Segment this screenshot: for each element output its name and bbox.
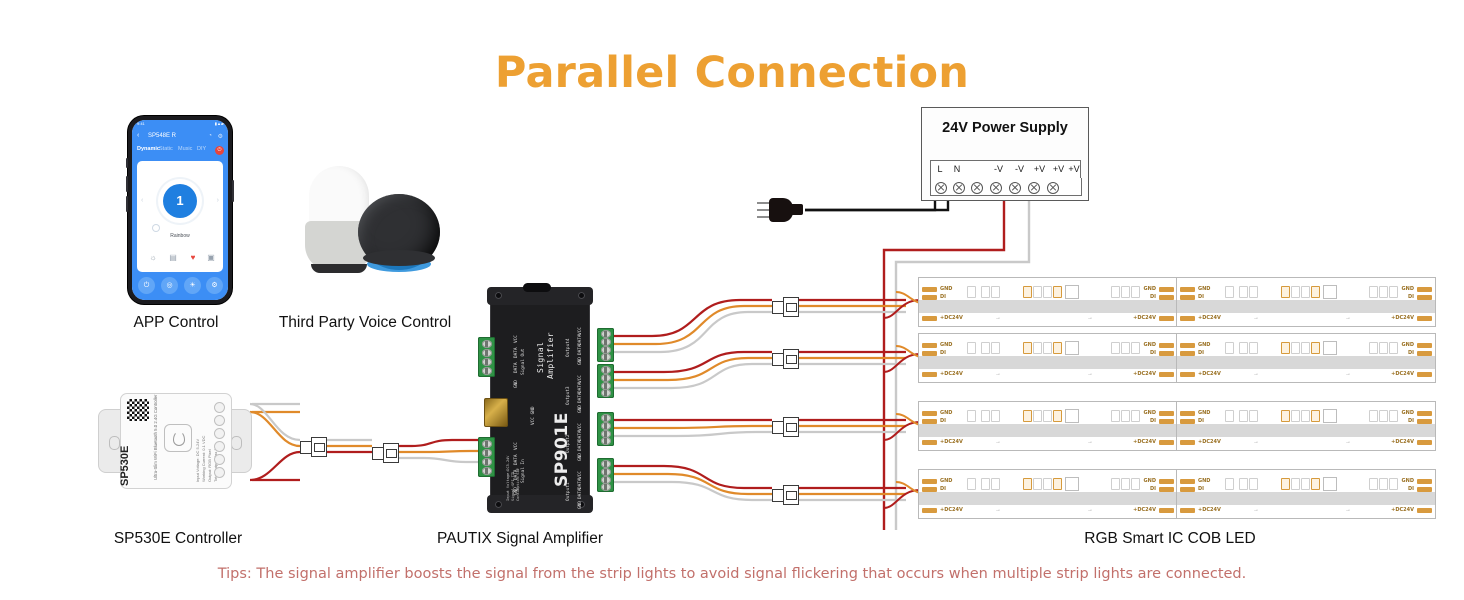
- status-icons: ▮▲▰: [215, 121, 224, 126]
- amp-spec-1: Input Voltage:DC5-24V: [506, 456, 510, 501]
- pad-label-di-end: DI: [1150, 418, 1156, 424]
- bottom-settings-icon[interactable]: ⚙: [206, 277, 223, 294]
- screw-terminal-icon[interactable]: [953, 182, 965, 194]
- pad-label-di: DI: [1198, 294, 1204, 300]
- pad-label-di-end: DI: [1408, 418, 1414, 424]
- led-strip-segment: GND DI +DC24V → → GND DI +DC24V: [918, 469, 1178, 519]
- pad-label-voltage: +DC24V: [1198, 371, 1221, 377]
- amp-out-pin-data1: DATA: [514, 347, 519, 358]
- power-toggle-icon[interactable]: ⏻: [215, 146, 224, 155]
- pad-label-di: DI: [1198, 418, 1204, 424]
- flow-arrow-icon: →: [1345, 439, 1351, 445]
- amp-output1-label: Output1: [566, 482, 571, 501]
- solder-pad-gnd: [922, 287, 937, 292]
- flow-arrow-icon: →: [1253, 439, 1259, 445]
- flow-arrow-icon: →: [1345, 371, 1351, 377]
- app-body: ‹ › 1 Rainbow ☼ ▤ ♥ ▣ ⏻ ◎ ☀ ⚙: [132, 157, 228, 300]
- amp-title-line-1: Signal: [536, 342, 545, 373]
- jst-connector-icon: [300, 436, 326, 456]
- pad-label-voltage-end: +DC24V: [1133, 315, 1156, 321]
- pad-label-di-end: DI: [1408, 486, 1414, 492]
- pad-label-di-end: DI: [1408, 350, 1414, 356]
- amp-mount-tab-top: [487, 287, 593, 305]
- flow-arrow-icon: →: [995, 507, 1001, 513]
- timer-icon[interactable]: ◔: [208, 133, 212, 139]
- flow-arrow-icon: →: [1345, 507, 1351, 513]
- led-strip-band: [1177, 300, 1435, 313]
- dial-knob[interactable]: [153, 225, 159, 231]
- pad-label-di-end: DI: [1150, 350, 1156, 356]
- pad-label-di-end: DI: [1150, 486, 1156, 492]
- pad-label-gnd: GND: [1198, 342, 1210, 348]
- pad-label-gnd: GND: [940, 478, 952, 484]
- flow-arrow-icon: →: [1253, 371, 1259, 377]
- pad-label-voltage-end: +DC24V: [1391, 439, 1414, 445]
- controller-spec-3: Output: RGB Pixel: [207, 449, 212, 482]
- qr-code-icon: [127, 399, 149, 421]
- phone-button-mute[interactable]: [126, 158, 128, 168]
- amp-signal-in-terminal[interactable]: [478, 437, 495, 477]
- scene-dial[interactable]: 1: [158, 179, 202, 223]
- phone-button-volume-down[interactable]: [126, 196, 128, 212]
- bottom-button-row: ⏻ ◎ ☀ ⚙: [137, 277, 223, 295]
- terminal-label-blank: [966, 160, 989, 180]
- app-tab-bar: Dynamic Static Music DIY ⏻: [132, 143, 228, 157]
- next-scene-icon[interactable]: ›: [217, 197, 219, 204]
- amp-output2-label: Output2: [566, 434, 571, 453]
- amp-output4-gnd: GND: [578, 357, 583, 365]
- pad-label-gnd: GND: [1198, 410, 1210, 416]
- amp-output1-terminal[interactable]: [597, 458, 614, 492]
- controller-screw-terminal[interactable]: [214, 415, 225, 426]
- phone-screen: 9:41 ▮▲▰ ‹ SP548E R ◔ ⚙ Dynamic Static M…: [132, 120, 228, 300]
- pad-label-gnd-end: GND: [1402, 478, 1414, 484]
- controller-screw-terminal[interactable]: [214, 428, 225, 439]
- amp-output3-data2: DATA: [578, 392, 583, 403]
- amp-out-pin-vcc: VCC: [514, 335, 519, 343]
- terminal-label-neg1: -V: [988, 160, 1010, 180]
- palette-icon[interactable]: ▣: [205, 253, 217, 263]
- jst-connector-icon: [772, 296, 798, 316]
- back-icon[interactable]: ‹: [137, 132, 139, 139]
- terminal-label-pos2: +V: [1049, 160, 1069, 180]
- screw-terminal-icon[interactable]: [971, 182, 983, 194]
- amp-output2-data2: DATA: [578, 440, 583, 451]
- caption-controller: SP530E Controller: [100, 530, 256, 548]
- scene-card: ‹ › 1 Rainbow ☼ ▤ ♥ ▣: [137, 161, 223, 272]
- pad-label-voltage-end: +DC24V: [1133, 371, 1156, 377]
- flow-arrow-icon: →: [995, 371, 1001, 377]
- power-supply-title: 24V Power Supply: [922, 120, 1088, 136]
- amazon-echo-dot-speaker: [358, 194, 440, 278]
- pad-label-di: DI: [940, 486, 946, 492]
- pad-label-di: DI: [1198, 350, 1204, 356]
- led-strip-segment: GND DI +DC24V → → GND DI +DC24V: [918, 277, 1178, 327]
- mount-hole: [231, 436, 242, 450]
- amp-output4-terminal[interactable]: [597, 328, 614, 362]
- controller-spec-2: Working Current: 0.1 VDC: [201, 436, 206, 482]
- caption-app-control: APP Control: [100, 314, 252, 332]
- flow-arrow-icon: →: [995, 439, 1001, 445]
- screw-terminal-icon[interactable]: [1047, 182, 1059, 194]
- amp-signal-out-label: Signal Out: [521, 349, 526, 375]
- smartphone-app-mockup[interactable]: 9:41 ▮▲▰ ‹ SP548E R ◔ ⚙ Dynamic Static M…: [128, 116, 232, 304]
- tab-music[interactable]: Music: [178, 146, 192, 152]
- led-strip-band: [919, 300, 1177, 313]
- tab-static[interactable]: Static: [159, 146, 173, 152]
- flow-arrow-icon: →: [1345, 315, 1351, 321]
- pad-label-gnd: GND: [940, 286, 952, 292]
- pad-label-voltage: +DC24V: [940, 371, 963, 377]
- led-strip-segment: GND DI +DC24V → → GND DI +DC24V: [1176, 333, 1436, 383]
- pad-label-gnd-end: GND: [1144, 342, 1156, 348]
- settings-icon[interactable]: ⚙: [218, 133, 223, 140]
- bottom-scene-icon[interactable]: ◎: [161, 277, 178, 294]
- pad-label-gnd-end: GND: [1144, 286, 1156, 292]
- sp530e-controller: Ultra-Slim WiFi Bluetooth 5.0 2.4G Contr…: [98, 385, 250, 495]
- plug-nose: [790, 204, 803, 215]
- caption-amplifier: PAUTIX Signal Amplifier: [390, 530, 650, 548]
- pad-label-voltage-end: +DC24V: [1391, 507, 1414, 513]
- amp-output2-terminal[interactable]: [597, 412, 614, 446]
- sp901e-signal-amplifier: Signal Amplifier SP901E VCC GND Signal O…: [490, 295, 590, 507]
- bottom-brightness-icon[interactable]: ☀: [184, 277, 201, 294]
- amp-signal-out-terminal[interactable]: [478, 337, 495, 377]
- screw-icon: [578, 292, 585, 299]
- jst-connector-icon: [772, 484, 798, 504]
- pad-label-voltage: +DC24V: [940, 507, 963, 513]
- pad-label-voltage-end: +DC24V: [1133, 439, 1156, 445]
- pad-label-gnd-end: GND: [1402, 410, 1414, 416]
- terminal-label-n: N: [948, 160, 967, 180]
- bottom-power-icon[interactable]: ⏻: [138, 277, 155, 294]
- solder-pad-vcc-end: [1159, 316, 1174, 321]
- flow-arrow-icon: →: [995, 315, 1001, 321]
- status-time: 9:41: [137, 121, 145, 126]
- usb-connector[interactable]: [484, 398, 508, 427]
- solder-pad-gnd-end: [1159, 287, 1174, 292]
- amp-out-pin-data2: DATA: [514, 362, 519, 373]
- amp-output3-gnd: GND: [578, 405, 583, 413]
- power-supply-unit: 24V Power Supply L N -V -V +V +V +V: [921, 107, 1089, 201]
- pad-label-di: DI: [940, 418, 946, 424]
- ac-power-plug-icon: [757, 196, 807, 224]
- screw-icon: [495, 501, 502, 508]
- led-strip-segment: GND DI +DC24V → → GND DI +DC24V: [1176, 277, 1436, 327]
- flow-arrow-icon: →: [1087, 371, 1093, 377]
- amp-output1-data2: DATA: [578, 488, 583, 499]
- pad-label-voltage-end: +DC24V: [1391, 371, 1414, 377]
- solder-pad-di: [922, 295, 937, 300]
- phone-button-volume-up[interactable]: [126, 176, 128, 192]
- pad-label-voltage-end: +DC24V: [1133, 507, 1156, 513]
- controller-screw-terminal[interactable]: [214, 402, 225, 413]
- led-strip-segment: GND DI +DC24V → → GND DI +DC24V: [918, 401, 1178, 451]
- pad-label-voltage: +DC24V: [940, 439, 963, 445]
- flow-arrow-icon: →: [1253, 507, 1259, 513]
- led-strip-segment: GND DI +DC24V → → GND DI +DC24V: [1176, 401, 1436, 451]
- led-strip-segment: GND DI +DC24V → → GND DI +DC24V: [1176, 469, 1436, 519]
- pad-label-gnd-end: GND: [1144, 410, 1156, 416]
- amp-in-pin-vcc: VCC: [514, 442, 519, 450]
- scene-number: 1: [163, 184, 197, 218]
- controller-model-label: SP530E: [119, 446, 131, 486]
- jst-connector-icon: [772, 348, 798, 368]
- pad-label-gnd-end: GND: [1144, 478, 1156, 484]
- prev-scene-icon[interactable]: ‹: [141, 197, 143, 204]
- controller-screw-terminal[interactable]: [214, 467, 225, 478]
- amp-slot: [523, 283, 551, 292]
- amp-output3-terminal[interactable]: [597, 364, 614, 398]
- amp-usb-label: VCC GND: [531, 406, 536, 425]
- pad-label-gnd-end: GND: [1402, 286, 1414, 292]
- terminal-label-l: L: [930, 160, 950, 180]
- flow-arrow-icon: →: [1253, 315, 1259, 321]
- controller-screw-terminal[interactable]: [214, 441, 225, 452]
- flow-arrow-icon: →: [1087, 507, 1093, 513]
- favorite-icon[interactable]: ♥: [187, 253, 199, 263]
- pad-label-di-end: DI: [1408, 294, 1414, 300]
- pad-label-di: DI: [940, 294, 946, 300]
- screw-icon: [495, 292, 502, 299]
- amp-output3-label: Output3: [566, 386, 571, 405]
- amp-title-line-2: Amplifier: [546, 332, 555, 379]
- solder-pad-vcc: [922, 316, 937, 321]
- amp-spec-2: Signal:SPI TTL: [511, 471, 515, 501]
- controller-spec-1: Input Voltage: DC 5-24V: [195, 439, 200, 482]
- screw-terminal-icon[interactable]: [990, 182, 1002, 194]
- mode-label: Rainbow: [137, 233, 223, 239]
- speed-icon[interactable]: ▤: [167, 253, 179, 263]
- tab-dynamic[interactable]: Dynamic: [137, 146, 160, 152]
- pad-label-di: DI: [1198, 486, 1204, 492]
- jst-connector-icon: [772, 416, 798, 436]
- solder-pad-di-end: [1159, 295, 1174, 300]
- power-button-icon[interactable]: [164, 424, 192, 452]
- amp-output2-gnd: GND: [578, 453, 583, 461]
- pad-label-di: DI: [940, 350, 946, 356]
- jst-connector-icon: [372, 442, 398, 462]
- pad-label-voltage-end: +DC24V: [1391, 315, 1414, 321]
- echo-dot-shadow: [363, 250, 435, 266]
- amp-output1-gnd: GND: [578, 501, 583, 509]
- tips-text: Tips: The signal amplifier boosts the si…: [0, 566, 1464, 582]
- app-navbar: ‹ SP548E R ◔ ⚙: [132, 129, 228, 143]
- terminal-label-pos1: +V: [1030, 160, 1050, 180]
- terminal-label-neg2: -V: [1009, 160, 1031, 180]
- terminal-label-pos3: +V: [1068, 160, 1081, 180]
- caption-led: RGB Smart IC COB LED: [1000, 530, 1340, 548]
- pad-label-gnd: GND: [940, 342, 952, 348]
- flow-arrow-icon: →: [1087, 315, 1093, 321]
- pad-label-gnd-end: GND: [1402, 342, 1414, 348]
- led-strip-segment: GND DI +DC24V → → GND DI +DC24V: [918, 333, 1178, 383]
- controller-body: Ultra-Slim WiFi Bluetooth 5.0 2.4G Contr…: [120, 393, 232, 489]
- screw-terminal-icon[interactable]: [1009, 182, 1021, 194]
- brightness-icon[interactable]: ☼: [147, 253, 159, 263]
- device-title: SP548E R: [148, 133, 176, 139]
- pad-label-di-end: DI: [1150, 294, 1156, 300]
- amp-signal-in-label: Signal In: [521, 459, 526, 483]
- pad-label-gnd: GND: [940, 410, 952, 416]
- pad-label-gnd: GND: [1198, 286, 1210, 292]
- terminal-screw-row: [930, 178, 1082, 196]
- phone-button-power[interactable]: [232, 180, 234, 202]
- amp-in-pin-data1: DATA: [514, 454, 519, 465]
- pad-label-gnd: GND: [1198, 478, 1210, 484]
- phone-status-bar: 9:41 ▮▲▰: [132, 120, 228, 129]
- amp-output4-label: Output4: [566, 338, 571, 357]
- flow-arrow-icon: →: [1087, 439, 1093, 445]
- pad-label-voltage: +DC24V: [940, 315, 963, 321]
- pad-label-voltage: +DC24V: [1198, 439, 1221, 445]
- controller-feature-text: Ultra-Slim WiFi Bluetooth 5.0 2.4G Contr…: [153, 395, 158, 481]
- caption-voice-control: Third Party Voice Control: [265, 314, 465, 332]
- screw-terminal-icon[interactable]: [935, 182, 947, 194]
- amp-output4-data2: DATA: [578, 344, 583, 355]
- power-supply-terminal-strip: L N -V -V +V +V +V: [930, 160, 1080, 196]
- controller-screw-terminal[interactable]: [214, 454, 225, 465]
- amp-spec-3: Consumption:<3W: [516, 469, 520, 501]
- pad-label-voltage: +DC24V: [1198, 315, 1221, 321]
- tab-diy[interactable]: DIY: [197, 146, 206, 152]
- screw-terminal-icon[interactable]: [1028, 182, 1040, 194]
- amp-out-pin-gnd: GND: [514, 380, 519, 388]
- pad-label-voltage: +DC24V: [1198, 507, 1221, 513]
